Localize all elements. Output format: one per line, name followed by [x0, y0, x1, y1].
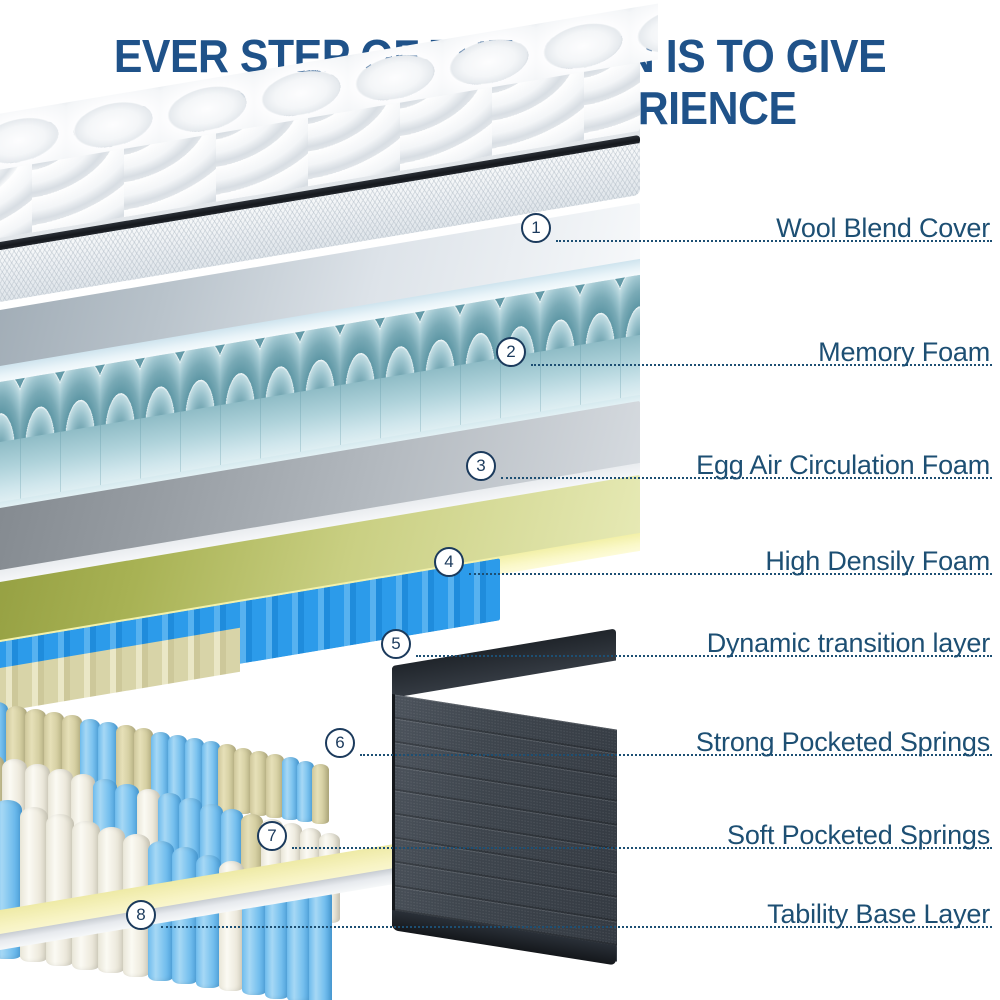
pocketed-spring-coil [46, 814, 74, 966]
callout-number-5[interactable]: 5 [381, 629, 411, 659]
callout-number-4[interactable]: 4 [434, 547, 464, 577]
layer-label-6: Strong Pocketed Springs [696, 727, 990, 758]
layer-label-7: Soft Pocketed Springs [727, 820, 990, 851]
callout-number-7[interactable]: 7 [257, 821, 287, 851]
layer-label-1: Wool Blend Cover [776, 213, 990, 244]
layer-label-3: Egg Air Circulation Foam [696, 450, 990, 481]
mattress-exploded-diagram [0, 140, 700, 970]
callout-number-3[interactable]: 3 [466, 451, 496, 481]
callout-number-6[interactable]: 6 [325, 728, 355, 758]
layer-label-2: Memory Foam [818, 337, 990, 368]
layer-label-4: High Densily Foam [765, 546, 990, 577]
callout-number-1[interactable]: 1 [521, 213, 551, 243]
side-panel-top-edge [392, 629, 616, 698]
layer-pocketed-spring-unit [0, 652, 700, 982]
pocketed-spring-coil [309, 888, 332, 1000]
callout-number-8[interactable]: 8 [126, 900, 156, 930]
callout-number-2[interactable]: 2 [496, 337, 526, 367]
layer-label-8: Tability Base Layer [767, 899, 990, 930]
infographic-page: EVER STEP OF THE DESIN IS TO GIVE YOU TH… [0, 0, 1000, 1000]
layer-label-5: Dynamic transition layer [707, 628, 990, 659]
